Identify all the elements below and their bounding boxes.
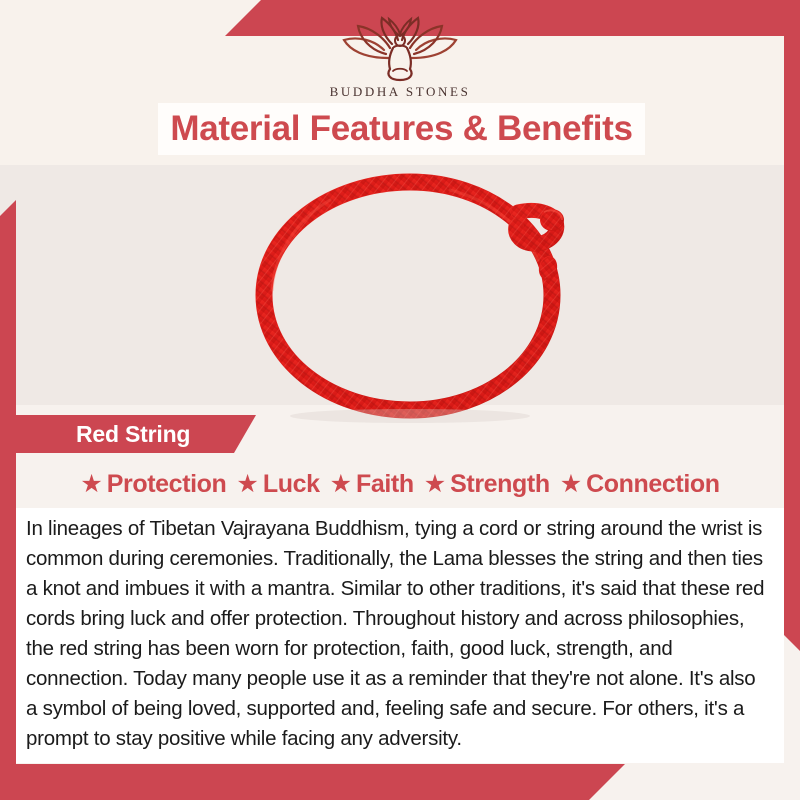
star-icon: ★ [80, 472, 102, 497]
lotus-meditation-icon [0, 14, 800, 82]
brand-logo: BUDDHA STONES [0, 14, 800, 100]
page-title: Material Features & Benefits [170, 109, 632, 149]
material-banner: Red String [16, 415, 256, 453]
benefits-list: ★ Protection ★ Luck ★ Faith ★ Strength ★… [16, 466, 784, 502]
page-title-box: Material Features & Benefits [158, 103, 645, 155]
benefit-item-faith: ★ Faith [330, 470, 414, 499]
description-panel: In lineages of Tibetan Vajrayana Buddhis… [16, 508, 784, 763]
benefit-label: Protection [107, 470, 227, 499]
product-photo-red-string-bracelet [200, 160, 620, 430]
infographic-page: BUDDHA STONES Material Features & Benefi… [0, 0, 800, 800]
star-icon: ★ [330, 472, 352, 497]
star-icon: ★ [560, 472, 582, 497]
benefit-label: Connection [586, 470, 720, 499]
star-icon: ★ [236, 472, 258, 497]
benefit-label: Faith [356, 470, 414, 499]
description-text: In lineages of Tibetan Vajrayana Buddhis… [26, 514, 768, 754]
material-name: Red String [76, 421, 190, 448]
left-red-bar-decoration [0, 200, 16, 800]
star-icon: ★ [424, 472, 446, 497]
benefit-item-luck: ★ Luck [236, 470, 319, 499]
brand-name: BUDDHA STONES [0, 84, 800, 100]
benefit-item-protection: ★ Protection [80, 470, 226, 499]
bottom-red-bar-decoration [0, 764, 625, 800]
benefit-label: Strength [450, 470, 550, 499]
benefit-item-strength: ★ Strength [424, 470, 550, 499]
benefit-label: Luck [263, 470, 320, 499]
benefit-item-connection: ★ Connection [560, 470, 720, 499]
right-red-bar-decoration [784, 36, 800, 651]
